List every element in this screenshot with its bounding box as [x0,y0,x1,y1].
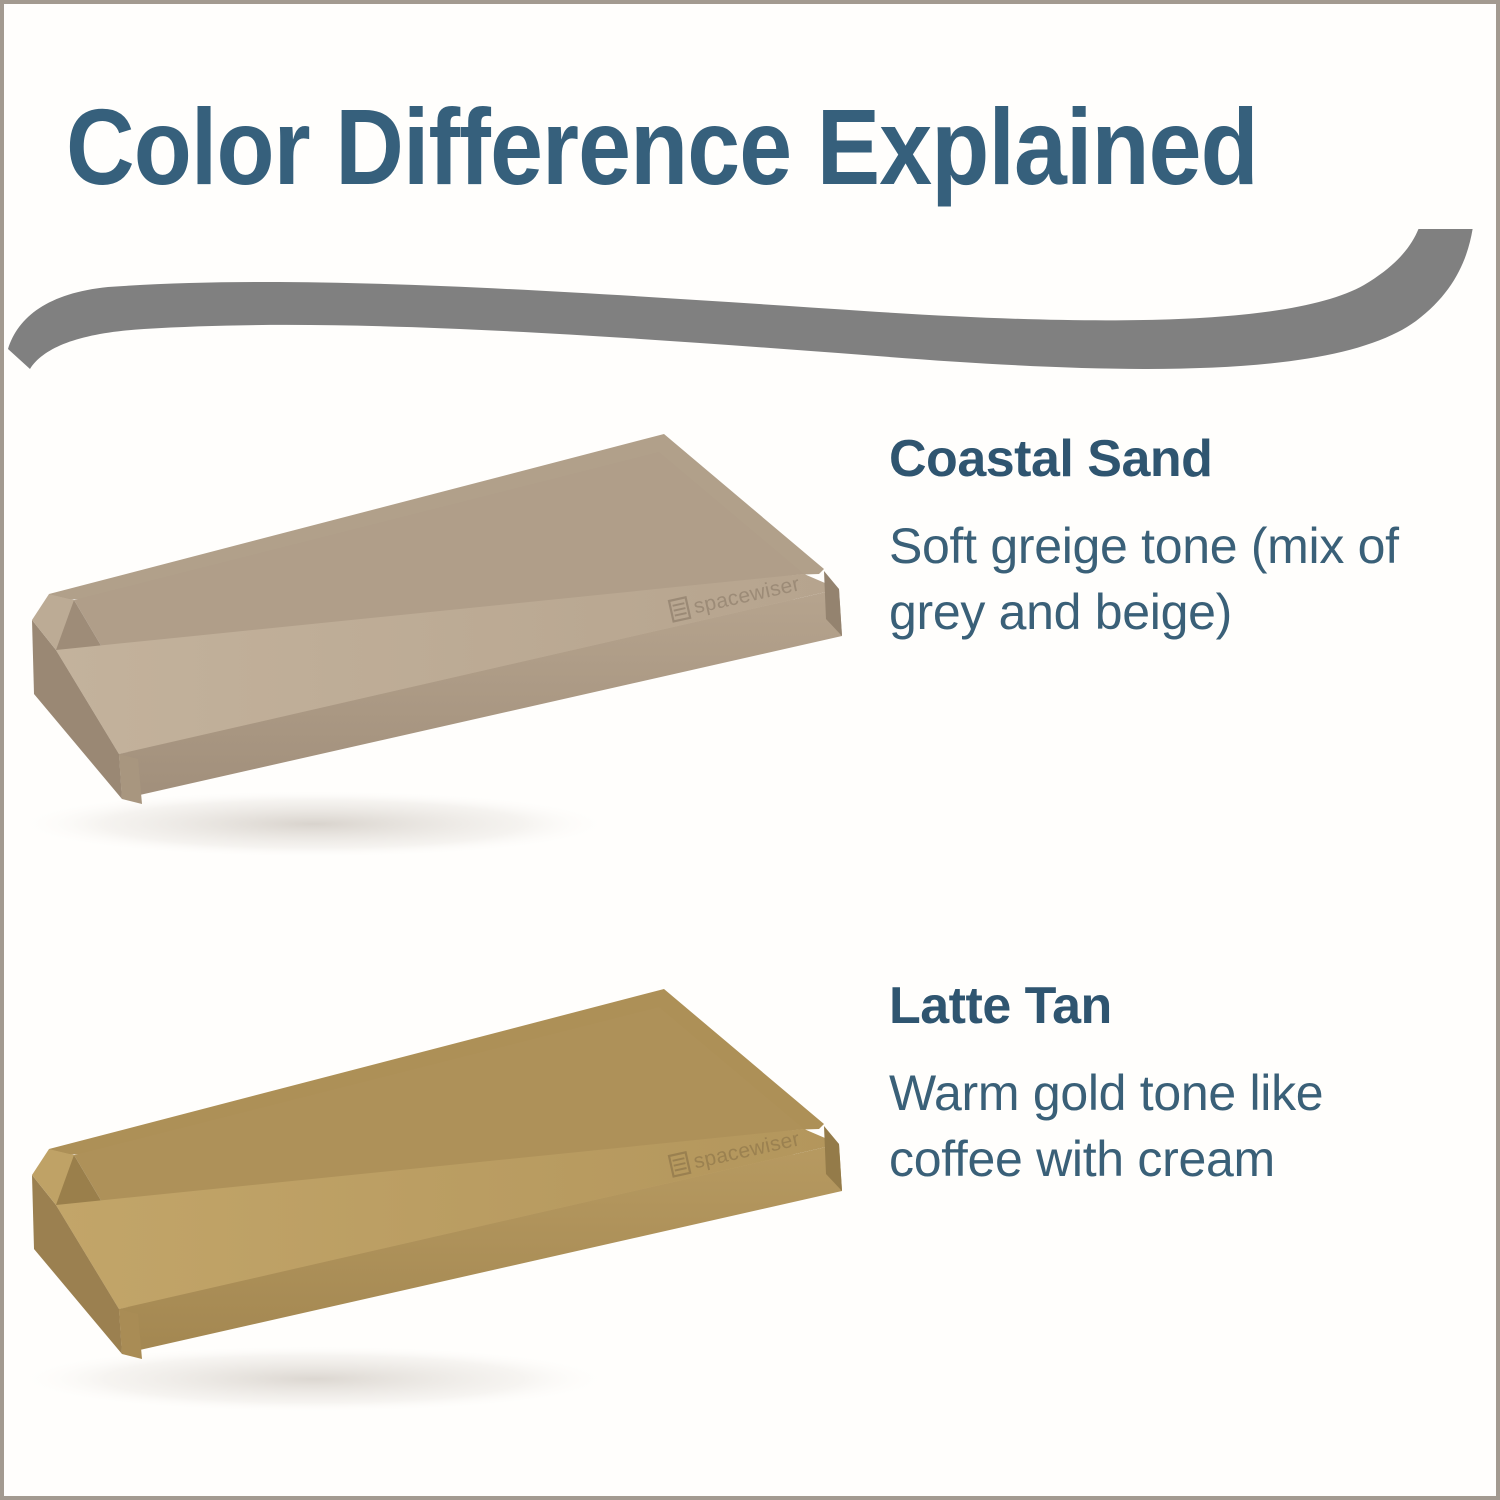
swatch-row-latte-tan: spacewiser Latte Tan Warm gold tone like… [4,959,1500,1439]
swatch-title-coastal-sand: Coastal Sand [889,432,1399,487]
swoosh-shape [8,229,1474,369]
swatch-title-latte-tan: Latte Tan [889,979,1399,1034]
swatch-text-latte-tan: Latte Tan Warm gold tone like coffee wit… [889,979,1399,1192]
drop-shadow [14,1345,614,1413]
product-image-coastal-sand: spacewiser [14,404,864,874]
swoosh-divider [4,229,1500,379]
page-title: Color Difference Explained [66,90,1280,203]
swatch-description-coastal-sand: Soft greige tone (mix of grey and beige) [889,513,1399,645]
drop-shadow [14,790,614,858]
swatch-text-coastal-sand: Coastal Sand Soft greige tone (mix of gr… [889,432,1399,645]
infographic-page: Color Difference Explained [0,0,1500,1500]
product-image-latte-tan: spacewiser [14,959,864,1429]
swatch-row-coastal-sand: spacewiser Coastal Sand Soft greige tone… [4,404,1500,904]
swatch-description-latte-tan: Warm gold tone like coffee with cream [889,1060,1399,1192]
